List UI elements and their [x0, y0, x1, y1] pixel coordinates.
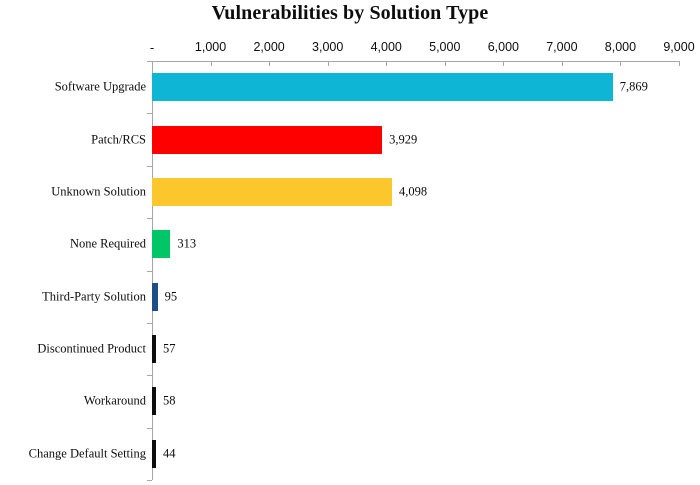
x-tick-5 — [445, 61, 446, 66]
x-tick-9 — [679, 61, 680, 66]
bar-value-label-5: 57 — [163, 342, 176, 357]
x-tick-1 — [211, 61, 212, 66]
x-tick-6 — [503, 61, 504, 66]
y-tick-6 — [147, 375, 152, 376]
bar-6[interactable] — [152, 387, 156, 415]
x-tick-2 — [269, 61, 270, 66]
y-tick-8 — [147, 480, 152, 481]
chart-container: Vulnerabilities by Solution Type -1,0002… — [0, 0, 700, 485]
y-tick-5 — [147, 323, 152, 324]
x-tick-label-1: 1,000 — [195, 40, 226, 54]
x-tick-label-3: 3,000 — [312, 40, 343, 54]
category-label-2: Unknown Solution — [2, 184, 146, 199]
category-label-3: None Required — [2, 237, 146, 252]
category-label-5: Discontinued Product — [2, 342, 146, 357]
y-tick-1 — [147, 113, 152, 114]
y-tick-7 — [147, 428, 152, 429]
bar-3[interactable] — [152, 230, 170, 258]
y-tick-0 — [147, 61, 152, 62]
x-tick-8 — [620, 61, 621, 66]
y-axis-line — [152, 61, 153, 480]
bar-value-label-3: 313 — [177, 237, 196, 252]
x-tick-label-0: - — [150, 40, 154, 55]
bar-5[interactable] — [152, 335, 156, 363]
x-tick-label-4: 4,000 — [371, 40, 402, 54]
category-label-4: Third-Party Solution — [2, 289, 146, 304]
x-tick-label-5: 5,000 — [429, 40, 460, 54]
plot-area: -1,0002,0003,0004,0005,0006,0007,0008,00… — [0, 0, 700, 485]
x-axis-line — [152, 61, 679, 62]
x-tick-7 — [562, 61, 563, 66]
x-tick-label-6: 6,000 — [488, 40, 519, 54]
x-tick-label-7: 7,000 — [546, 40, 577, 54]
x-tick-4 — [386, 61, 387, 66]
x-tick-0 — [152, 61, 153, 66]
x-tick-label-2: 2,000 — [253, 40, 284, 54]
x-tick-3 — [328, 61, 329, 66]
bar-value-label-7: 44 — [163, 446, 176, 461]
bar-0[interactable] — [152, 73, 613, 101]
y-tick-4 — [147, 271, 152, 272]
y-tick-2 — [147, 166, 152, 167]
bar-value-label-4: 95 — [165, 289, 178, 304]
bar-2[interactable] — [152, 178, 392, 206]
category-label-1: Patch/RCS — [2, 132, 146, 147]
x-tick-label-8: 8,000 — [605, 40, 636, 54]
bar-4[interactable] — [152, 283, 158, 311]
bar-value-label-2: 4,098 — [399, 184, 427, 199]
bar-1[interactable] — [152, 126, 382, 154]
bar-value-label-6: 58 — [163, 394, 176, 409]
bar-value-label-0: 7,869 — [620, 80, 648, 95]
bar-7[interactable] — [152, 440, 156, 468]
category-label-0: Software Upgrade — [2, 80, 146, 95]
category-label-7: Change Default Setting — [2, 446, 146, 461]
y-tick-3 — [147, 218, 152, 219]
category-label-6: Workaround — [2, 394, 146, 409]
x-tick-label-9: 9,000 — [663, 40, 694, 54]
bar-value-label-1: 3,929 — [389, 132, 417, 147]
